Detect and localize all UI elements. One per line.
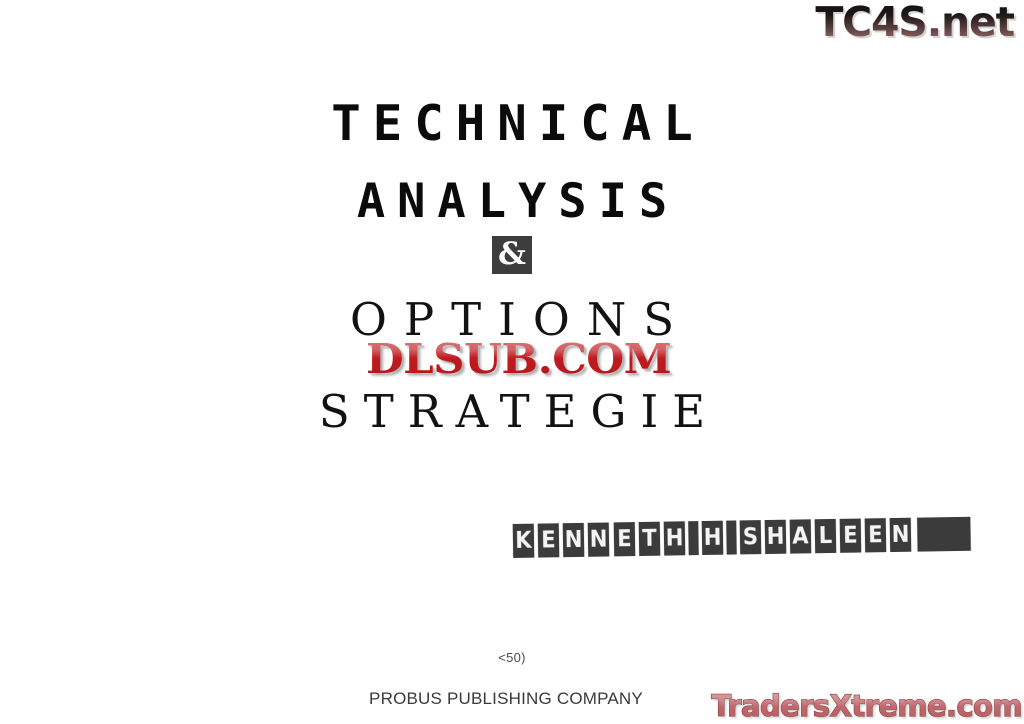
title-line-technical: TECHNICAL — [0, 99, 1024, 148]
author-tile: N — [563, 523, 585, 557]
title-ampersand-wrap: & — [0, 236, 1024, 274]
tradersxtreme-watermark: TradersXtreme.com — [711, 689, 1022, 723]
author-tile-blank — [917, 517, 971, 552]
author-tile: N — [588, 522, 610, 556]
book-cover-page: TC4S.net TC4S.net TECHNICAL ANALYSIS & O… — [0, 0, 1024, 724]
author-tile: H — [765, 520, 787, 554]
page-number-artifact: <50) — [0, 650, 1024, 665]
title-line-strategie: STRATEGIE — [0, 389, 1024, 434]
author-tile: N — [890, 518, 912, 552]
title-ampersand: & — [492, 236, 532, 274]
author-tile: H — [663, 521, 685, 555]
author-tile: H — [701, 521, 723, 555]
author-tile: A — [790, 519, 812, 553]
author-tile: T — [638, 522, 660, 556]
author-tile: S — [740, 520, 762, 554]
author-tile: E — [538, 523, 560, 557]
author-tile: K — [513, 524, 535, 558]
title-line-analysis: ANALYSIS — [0, 178, 1024, 225]
author-tile: E — [865, 518, 887, 552]
author-tile-space — [688, 521, 699, 555]
author-banner: K E N N E T H H S H A L E E N — [512, 517, 973, 558]
author-tile-space — [726, 520, 737, 554]
tc4s-watermark: TC4S.net — [815, 2, 1014, 43]
author-tile: L — [815, 519, 837, 553]
author-tile: E — [613, 522, 635, 556]
dlsub-watermark: DLSUB.COM — [366, 336, 671, 382]
author-tile: E — [840, 519, 862, 553]
